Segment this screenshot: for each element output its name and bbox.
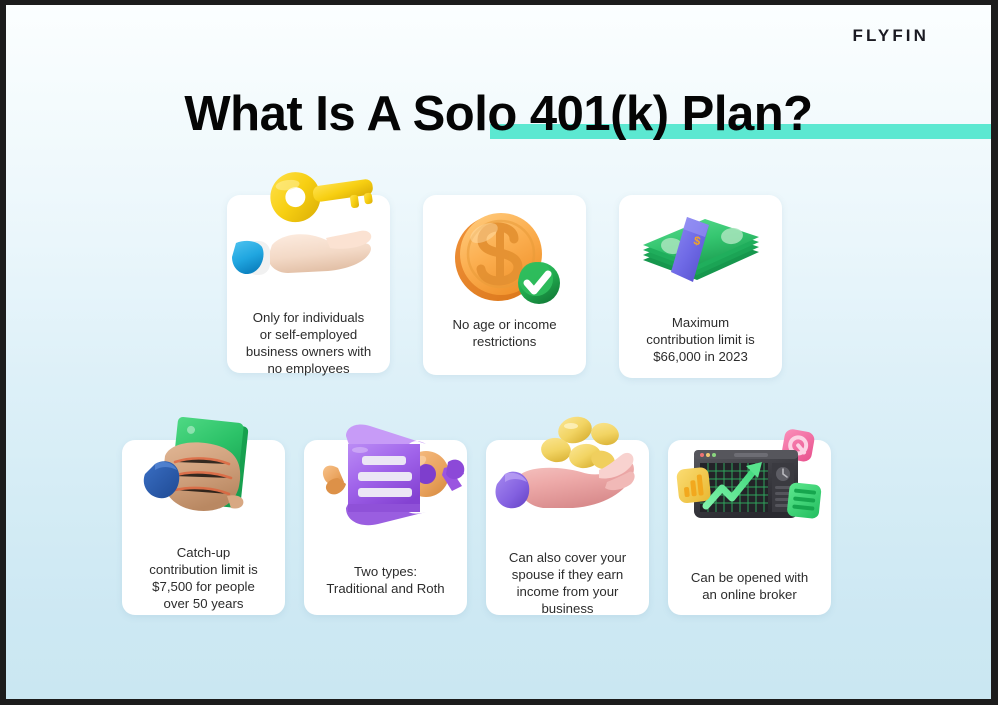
card-caption: Can also cover your spouse if they earn … xyxy=(502,549,633,617)
card-individuals-only[interactable]: Only for individuals or self-employed bu… xyxy=(227,195,390,373)
page-title-text: What Is A Solo 401(k) Plan? xyxy=(184,87,812,141)
card-caption: Maximum contribution limit is $66,000 in… xyxy=(639,314,761,365)
dollar-coin-check-icon xyxy=(423,215,586,303)
card-online-broker[interactable]: Can be opened with an online broker xyxy=(668,440,831,615)
page-title: What Is A Solo 401(k) Plan? xyxy=(184,83,812,145)
card-caption: Catch-up contribution limit is $7,500 fo… xyxy=(142,544,264,612)
card-max-contribution[interactable]: $ Maximum contribution limit is $66,000 … xyxy=(619,195,782,378)
key-on-open-hand-icon xyxy=(227,257,390,301)
stock-chart-monitor-icon xyxy=(668,496,831,536)
card-catchup-contribution[interactable]: Catch-up contribution limit is $7,500 fo… xyxy=(122,440,285,615)
page-title-wrapper: What Is A Solo 401(k) Plan? xyxy=(6,83,991,145)
cash-stack-icon: $ xyxy=(619,217,782,292)
card-two-types[interactable]: Two types: Traditional and Roth xyxy=(304,440,467,615)
scroll-document-key-icon xyxy=(304,496,467,536)
hand-catching-coins-icon xyxy=(486,492,649,532)
card-caption: Two types: Traditional and Roth xyxy=(319,563,451,597)
card-row-top: Only for individuals or self-employed bu… xyxy=(227,195,782,378)
card-row-bottom: Catch-up contribution limit is $7,500 fo… xyxy=(122,440,831,615)
infographic-frame: FLYFIN What Is A Solo 401(k) Plan? xyxy=(0,0,998,705)
card-no-restrictions[interactable]: No age or income restrictions xyxy=(423,195,586,375)
hand-holding-cash-icon xyxy=(122,494,285,534)
card-spouse-coverage[interactable]: Can also cover your spouse if they earn … xyxy=(486,440,649,615)
card-caption: No age or income restrictions xyxy=(445,316,563,350)
flyfin-logo: FLYFIN xyxy=(852,26,929,46)
card-caption: Only for individuals or self-employed bu… xyxy=(239,309,378,377)
infographic-canvas: FLYFIN What Is A Solo 401(k) Plan? xyxy=(6,5,991,699)
card-caption: Can be opened with an online broker xyxy=(684,569,815,603)
